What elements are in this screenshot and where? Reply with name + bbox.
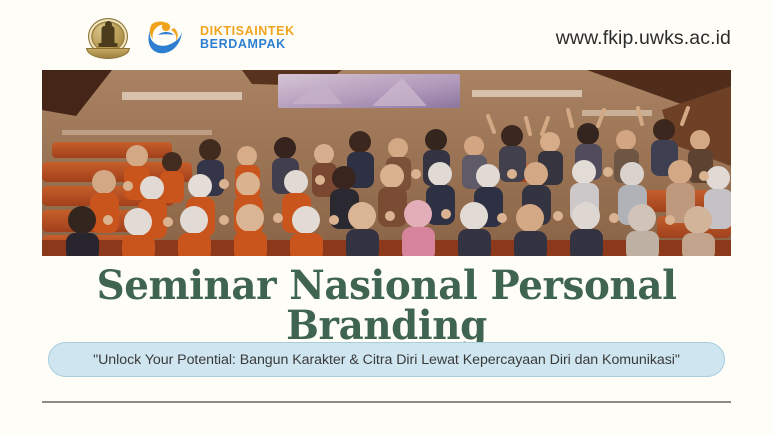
university-seal-icon [86, 16, 130, 60]
poster-slide: DIKTISAINTEK BERDAMPAK www.fkip.uwks.ac.… [0, 0, 773, 435]
diktisaintek-wordmark: DIKTISAINTEK BERDAMPAK [200, 25, 295, 51]
diktisaintek-person-icon [144, 18, 186, 58]
diktisaintek-line2: BERDAMPAK [200, 38, 295, 51]
page-title: Seminar Nasional Personal Branding [12, 266, 762, 346]
subtitle-banner: "Unlock Your Potential: Bangun Karakter … [48, 342, 725, 377]
logo-group: DIKTISAINTEK BERDAMPAK [86, 16, 295, 60]
bottom-divider [42, 401, 731, 403]
subtitle-text: "Unlock Your Potential: Bangun Karakter … [93, 352, 680, 368]
group-photo [42, 70, 731, 256]
header-bar: DIKTISAINTEK BERDAMPAK www.fkip.uwks.ac.… [42, 14, 731, 62]
website-url: www.fkip.uwks.ac.id [556, 27, 731, 50]
